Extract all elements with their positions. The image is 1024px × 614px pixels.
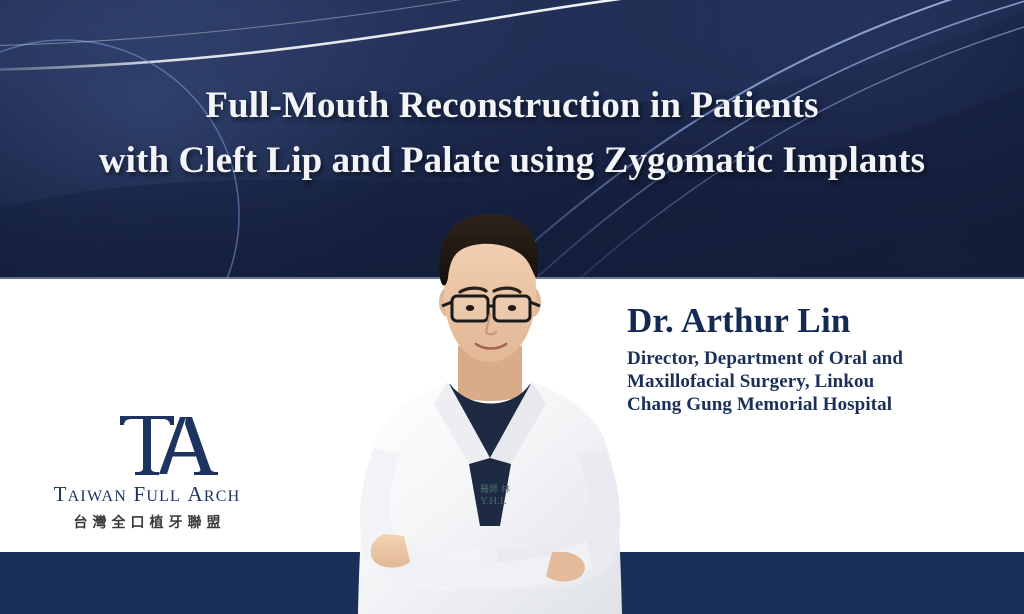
logo-word-ull: ULL: [146, 488, 181, 505]
logo-word-rch: RCH: [204, 488, 241, 505]
logo-word-t: T: [54, 482, 68, 506]
speaker-name: Dr. Arthur Lin: [627, 300, 1017, 342]
logo-chinese-name: 台灣全口植牙聯盟: [22, 512, 272, 532]
coat-embroidery-line-1: 醫師 林: [480, 483, 510, 495]
speaker-title: Director, Department of Oral and Maxillo…: [627, 347, 1017, 416]
logo-word-f: F: [133, 482, 146, 506]
title-line-2: with Cleft Lip and Palate using Zygomati…: [0, 133, 1024, 188]
ta-monogram-icon: [22, 412, 272, 478]
organization-logo: TAIWAN FULL ARCH 台灣全口植牙聯盟: [22, 412, 272, 532]
title-line-1: Full-Mouth Reconstruction in Patients: [0, 78, 1024, 133]
speaker-title-line-1: Director, Department of Oral and: [627, 347, 1017, 370]
speaker-title-line-2: Maxillofacial Surgery, Linkou: [627, 370, 1017, 393]
logo-word-aiwan: AIWAN: [68, 488, 127, 505]
speaker-info: Dr. Arthur Lin Director, Department of O…: [627, 300, 1017, 416]
page-title: Full-Mouth Reconstruction in Patients wi…: [0, 78, 1024, 188]
portrait-hand-left: [371, 534, 410, 568]
portrait-eye-right: [508, 305, 516, 311]
logo-wordmark: TAIWAN FULL ARCH: [22, 482, 272, 507]
coat-embroidery-line-2: Y.H.L: [480, 495, 507, 507]
speaker-title-line-3: Chang Gung Memorial Hospital: [627, 393, 1017, 416]
portrait-eye-left: [466, 305, 474, 311]
presentation-title-slide: Full-Mouth Reconstruction in Patients wi…: [0, 0, 1024, 614]
speaker-portrait: 醫師 林 Y.H.L: [330, 196, 650, 614]
portrait-illustration: 醫師 林 Y.H.L: [330, 196, 650, 614]
logo-word-a: A: [187, 482, 203, 506]
